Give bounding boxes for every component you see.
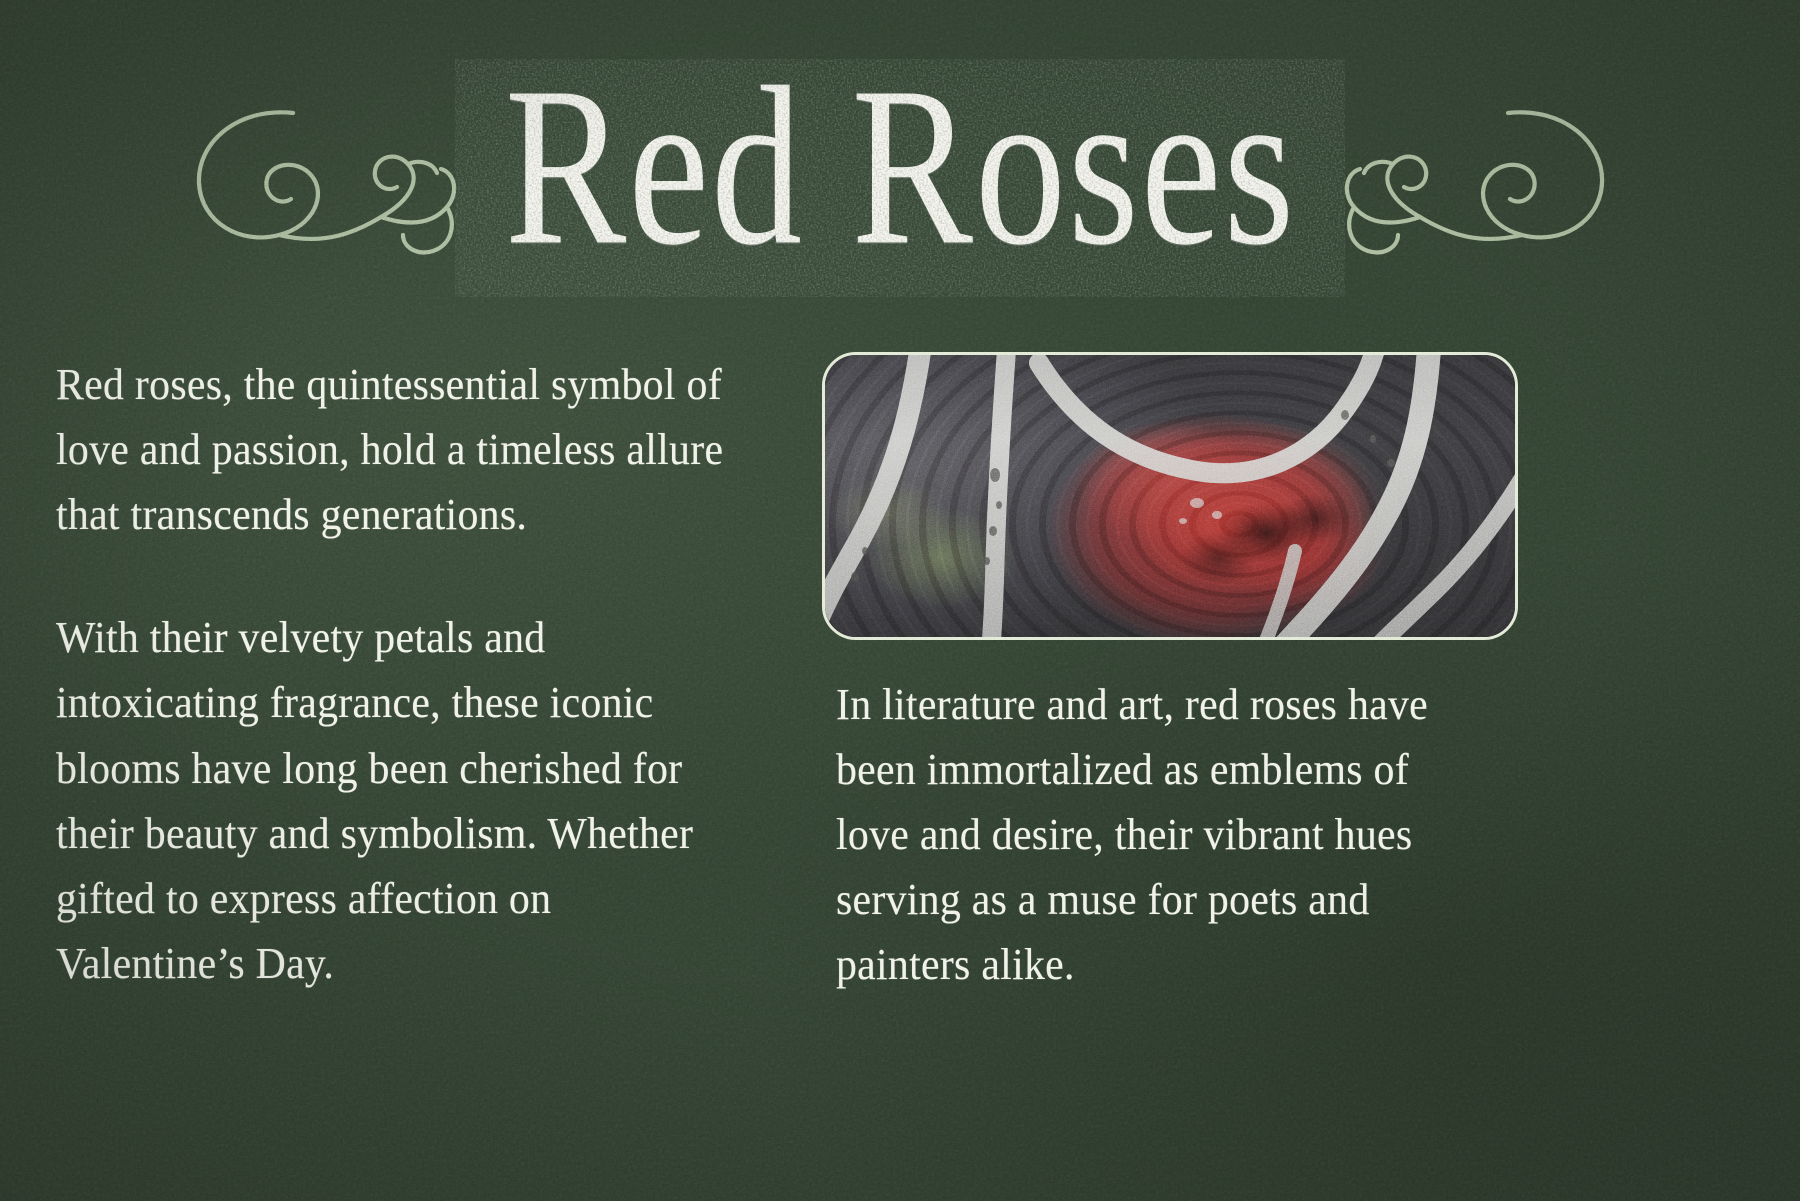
page-title: Red Roses: [504, 53, 1295, 280]
poster-header: Red Roses: [0, 52, 1800, 282]
left-paragraph-2: With their velvety petals and intoxicati…: [56, 605, 750, 996]
left-paragraph-1: Red roses, the quintessential symbol of …: [56, 352, 750, 547]
right-paragraph-1: In literature and art, red roses have be…: [836, 672, 1492, 998]
flourish-ornament-left: [175, 67, 465, 267]
poster-canvas: Red Roses: [0, 0, 1800, 1201]
rose-photo-frame: [822, 352, 1518, 640]
flourish-ornament-right: [1336, 67, 1626, 267]
photo-grain: [825, 355, 1515, 637]
left-text-column: Red roses, the quintessential symbol of …: [56, 352, 786, 996]
title-block: Red Roses: [475, 69, 1326, 265]
right-text-column: In literature and art, red roses have be…: [836, 672, 1526, 998]
